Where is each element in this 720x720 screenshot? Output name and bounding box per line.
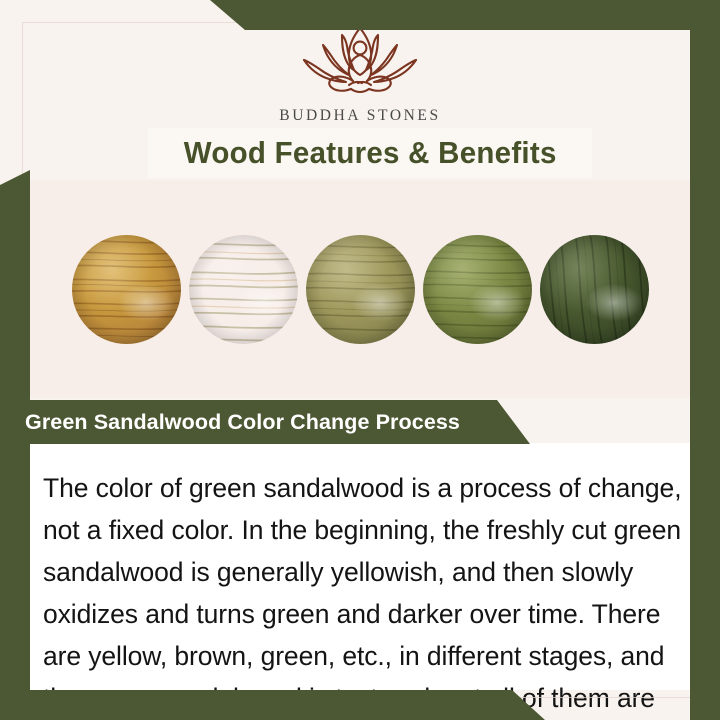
bead-highlight bbox=[540, 235, 649, 344]
section-banner: Green Sandalwood Color Change Process bbox=[0, 400, 530, 444]
bead-highlight bbox=[423, 235, 532, 344]
bead-highlight bbox=[306, 235, 415, 344]
bead-stage-1 bbox=[72, 235, 181, 344]
bead-stage-2 bbox=[189, 235, 298, 344]
bead-gallery bbox=[20, 180, 700, 398]
page-title-band: Wood Features & Benefits bbox=[148, 128, 592, 178]
description-panel: The color of green sandalwood is a proce… bbox=[20, 443, 700, 690]
brand-logo: BUDDHA STONES bbox=[0, 22, 720, 125]
bead-highlight bbox=[72, 235, 181, 344]
lotus-meditation-icon bbox=[285, 22, 435, 100]
description-paragraph: The color of green sandalwood is a proce… bbox=[43, 467, 683, 720]
frame-right-accent bbox=[690, 0, 720, 720]
bead-stage-4 bbox=[423, 235, 532, 344]
section-banner-label: Green Sandalwood Color Change Process bbox=[25, 410, 460, 435]
poster-root: BUDDHA STONES Wood Features & Benefits bbox=[0, 0, 720, 720]
bead-highlight bbox=[189, 235, 298, 344]
page-title: Wood Features & Benefits bbox=[184, 135, 557, 171]
brand-name: BUDDHA STONES bbox=[279, 107, 440, 125]
bead-stage-5 bbox=[540, 235, 649, 344]
bead-stage-3 bbox=[306, 235, 415, 344]
